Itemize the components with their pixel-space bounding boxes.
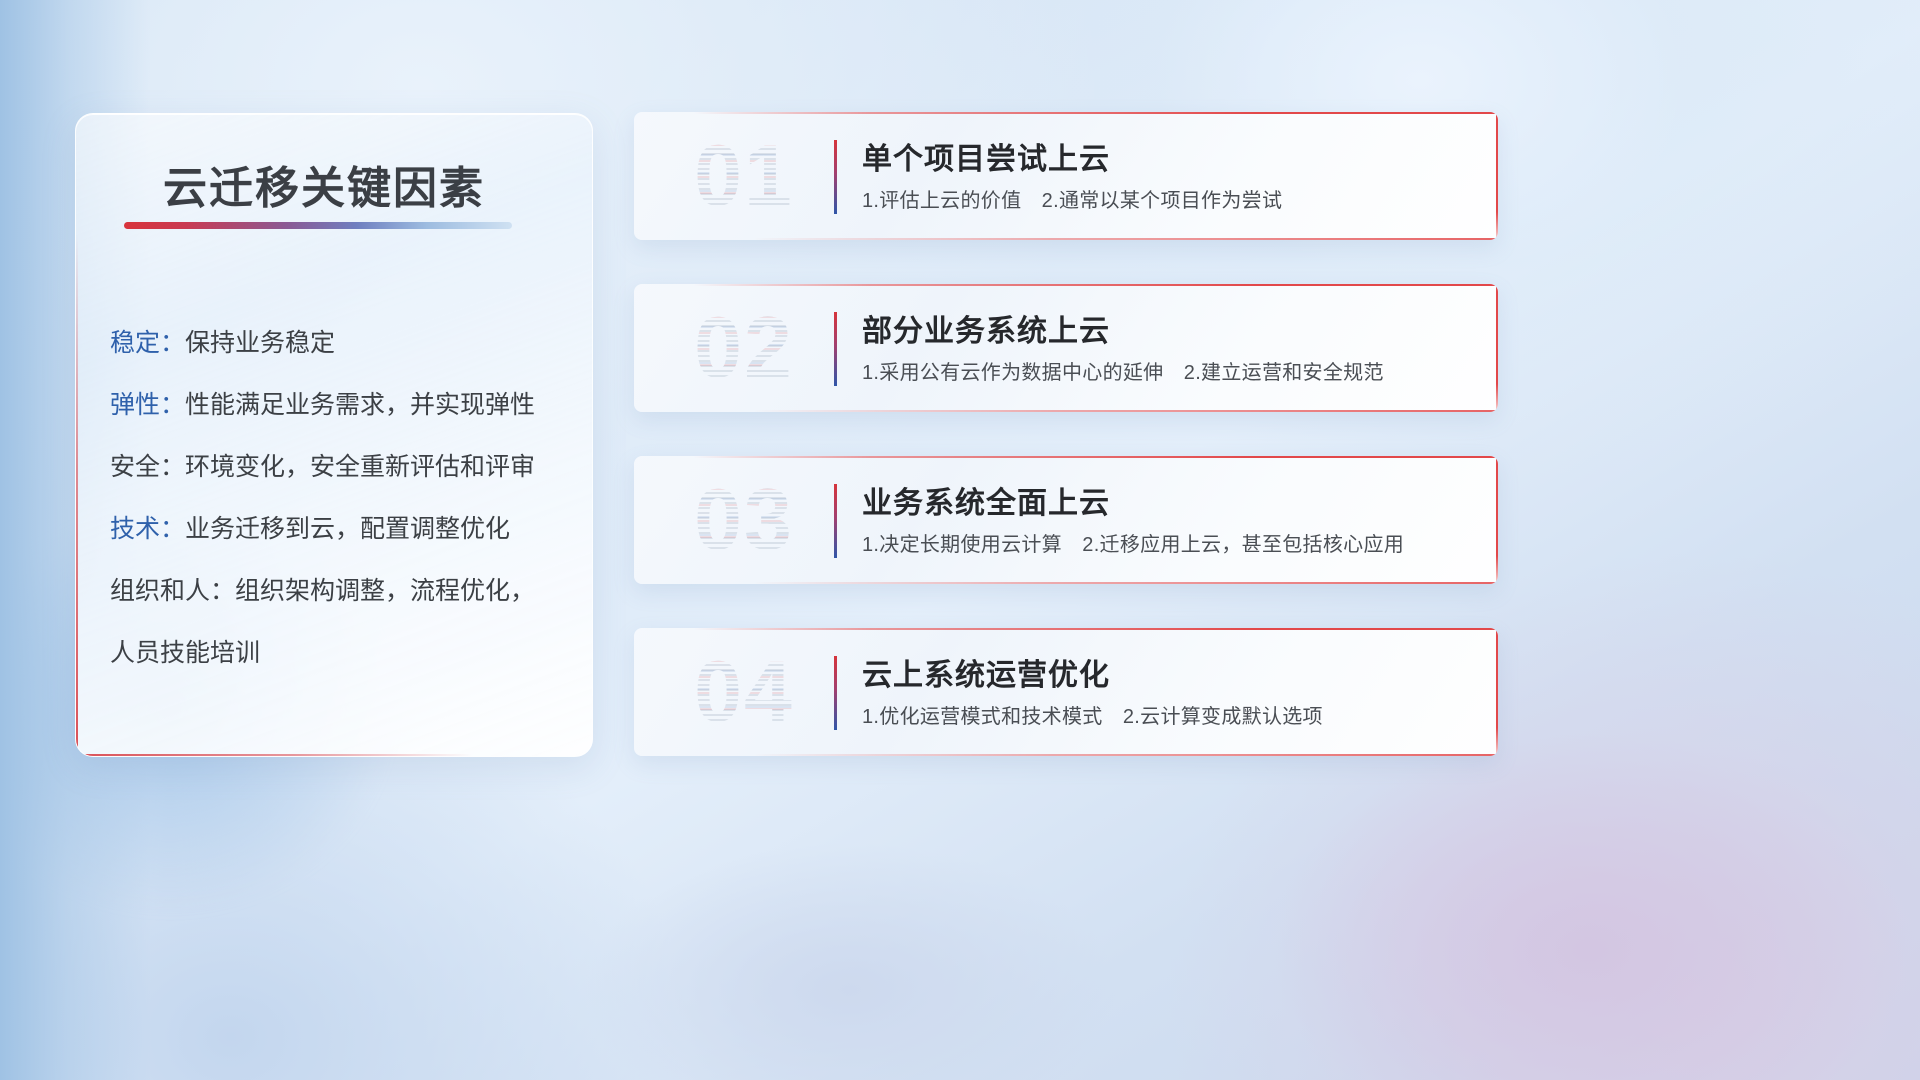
- card-right-accent-line: [1496, 284, 1498, 412]
- key-factor-label: 技术：: [110, 509, 185, 545]
- page-title: 云迁移关键因素: [163, 152, 485, 216]
- key-factor-value: 业务迁移到云，配置调整优化: [185, 509, 510, 545]
- card-subtitle: 1.评估上云的价值 2.通常以某个项目作为尝试: [862, 184, 1282, 213]
- card-right-accent-line: [1496, 456, 1498, 584]
- key-factor-label: 组织和人：: [110, 571, 235, 607]
- key-factor-row: 稳定：保持业务稳定: [110, 310, 570, 372]
- stage-card[interactable]: 0303业务系统全面上云1.决定长期使用云计算 2.迁移应用上云，甚至包括核心应…: [634, 456, 1498, 584]
- stage-card[interactable]: 0202部分业务系统上云1.采用公有云作为数据中心的延伸 2.建立运营和安全规范: [634, 284, 1498, 412]
- key-factor-label: 稳定：: [110, 323, 185, 359]
- card-right-accent-line: [1496, 112, 1498, 240]
- key-factor-label: 弹性：: [110, 385, 185, 421]
- card-top-accent-line: [694, 628, 1498, 630]
- card-number-watermark-tint: 03: [664, 472, 824, 568]
- card-number-watermark-tint: 01: [664, 128, 824, 224]
- card-bottom-accent-line: [754, 754, 1498, 756]
- card-title: 业务系统全面上云: [862, 478, 1110, 522]
- card-top-accent-line: [694, 284, 1498, 286]
- key-factor-value: 性能满足业务需求，并实现弹性: [185, 385, 535, 421]
- card-subtitle: 1.采用公有云作为数据中心的延伸 2.建立运营和安全规范: [862, 356, 1384, 385]
- key-factor-row: 技术：业务迁移到云，配置调整优化: [110, 496, 570, 558]
- card-accent-bar: [834, 140, 837, 214]
- card-title: 部分业务系统上云: [862, 306, 1110, 350]
- card-subtitle: 1.优化运营模式和技术模式 2.云计算变成默认选项: [862, 700, 1323, 729]
- key-factor-label: 安全：: [110, 447, 185, 483]
- card-top-accent-line: [694, 456, 1498, 458]
- card-title: 云上系统运营优化: [862, 650, 1110, 694]
- key-factors-panel: 云迁移关键因素 稳定：保持业务稳定弹性：性能满足业务需求，并实现弹性安全：环境变…: [75, 113, 593, 757]
- key-factor-row: 安全：环境变化，安全重新评估和评审: [110, 434, 570, 496]
- card-subtitle: 1.决定长期使用云计算 2.迁移应用上云，甚至包括核心应用: [862, 528, 1404, 557]
- key-factor-value: 保持业务稳定: [185, 323, 335, 359]
- stage-card[interactable]: 0404云上系统运营优化1.优化运营模式和技术模式 2.云计算变成默认选项: [634, 628, 1498, 756]
- card-accent-bar: [834, 656, 837, 730]
- key-factor-row: 弹性：性能满足业务需求，并实现弹性: [110, 372, 570, 434]
- card-number-watermark-tint: 02: [664, 300, 824, 396]
- card-bottom-accent-line: [754, 582, 1498, 584]
- title-underline-gradient: [124, 222, 512, 229]
- card-number-watermark-tint: 04: [664, 644, 824, 740]
- card-accent-bar: [834, 484, 837, 558]
- key-factors-list: 稳定：保持业务稳定弹性：性能满足业务需求，并实现弹性安全：环境变化，安全重新评估…: [110, 310, 570, 682]
- card-bottom-accent-line: [754, 238, 1498, 240]
- migration-stage-cards: 0101单个项目尝试上云1.评估上云的价值 2.通常以某个项目作为尝试0202部…: [634, 112, 1498, 756]
- card-accent-bar: [834, 312, 837, 386]
- key-factor-value: 环境变化，安全重新评估和评审: [185, 447, 535, 483]
- key-factor-value: 组织架构调整，流程优化，: [235, 571, 535, 607]
- key-factor-row: 组织和人：组织架构调整，流程优化，: [110, 558, 570, 620]
- card-bottom-accent-line: [754, 410, 1498, 412]
- key-factor-value: 人员技能培训: [110, 633, 260, 669]
- card-top-accent-line: [694, 112, 1498, 114]
- key-factor-row: 人员技能培训: [110, 620, 570, 682]
- card-title: 单个项目尝试上云: [862, 134, 1110, 178]
- stage-card[interactable]: 0101单个项目尝试上云1.评估上云的价值 2.通常以某个项目作为尝试: [634, 112, 1498, 240]
- slide-stage: 云迁移关键因素 稳定：保持业务稳定弹性：性能满足业务需求，并实现弹性安全：环境变…: [0, 0, 1920, 1080]
- card-right-accent-line: [1496, 628, 1498, 756]
